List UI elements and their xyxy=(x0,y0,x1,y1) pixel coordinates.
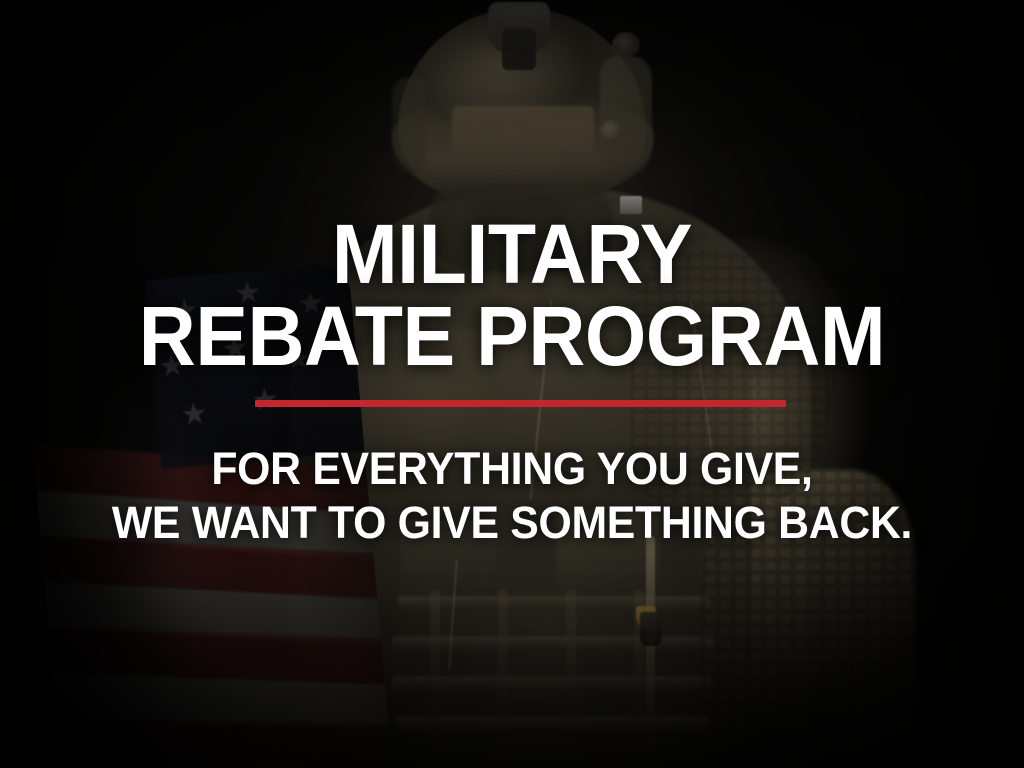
subtitle-line-1: FOR EVERYTHING YOU GIVE, xyxy=(26,446,999,491)
poster-text-layer: MILITARY REBATE PROGRAM FOR EVERYTHING Y… xyxy=(0,0,1024,768)
red-divider-rule xyxy=(255,400,786,407)
headline-line-2: REBATE PROGRAM xyxy=(31,296,994,377)
military-rebate-poster: ★ ★ ★ ★ ★ ★ ★ ★ MILITARY REBATE PROGRAM … xyxy=(0,0,1024,768)
subtitle-line-2: WE WANT TO GIVE SOMETHING BACK. xyxy=(26,500,999,545)
headline-line-1: MILITARY xyxy=(31,214,994,295)
